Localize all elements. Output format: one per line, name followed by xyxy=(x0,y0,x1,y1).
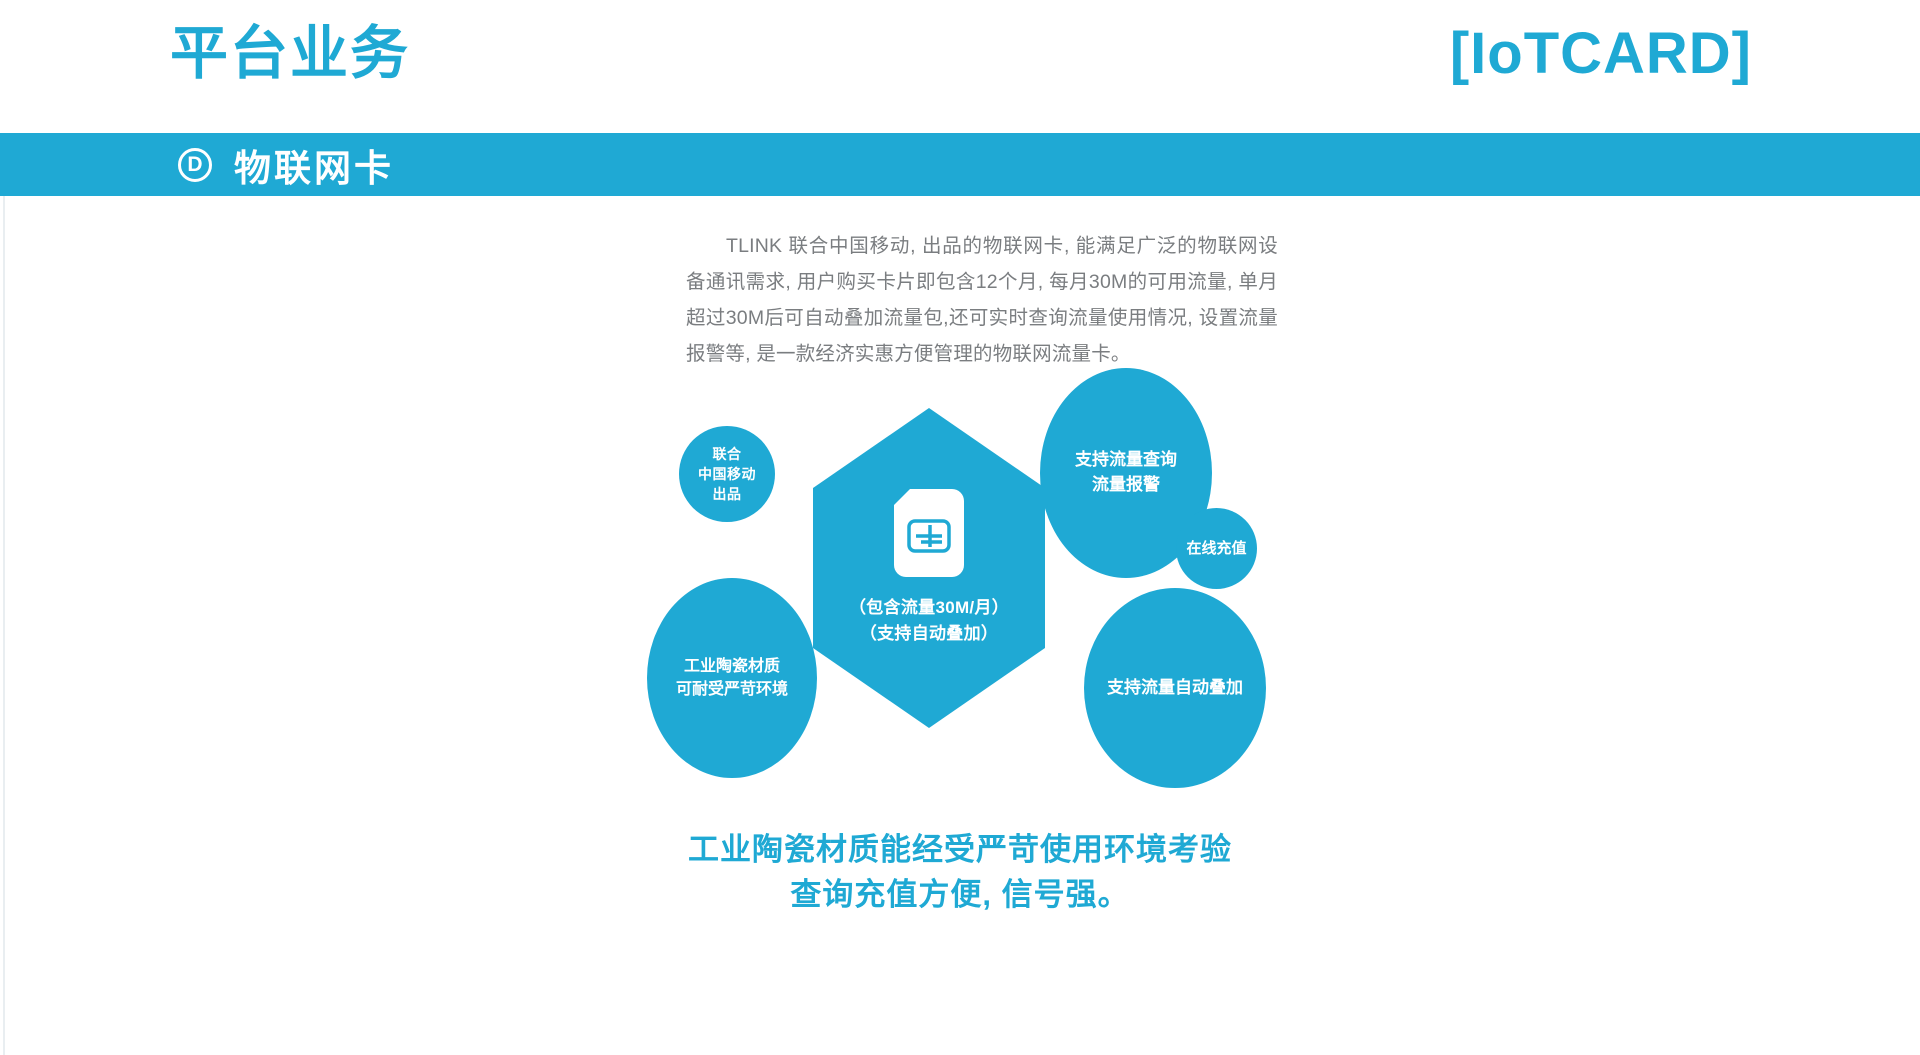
intro-paragraph: TLINK 联合中国移动, 出品的物联网卡, 能满足广泛的物联网设备通讯需求, … xyxy=(686,228,1278,372)
footer-headline: 工业陶瓷材质能经受严苛使用环境考验 查询充值方便, 信号强。 xyxy=(0,828,1920,918)
hexagon-caption: （包含流量30M/月） （支持自动叠加） xyxy=(849,595,1009,648)
diagram-center-hexagon: （包含流量30M/月） （支持自动叠加） xyxy=(813,408,1045,728)
diagram-node-recharge: 在线充值 xyxy=(1176,508,1257,589)
section-letter-badge-icon: D xyxy=(178,148,212,182)
slide-header: 平台业务 [IoTCARD] xyxy=(0,0,1920,133)
section-title: 物联网卡 xyxy=(234,138,394,192)
section-band-inner: D 物联网卡 xyxy=(178,133,394,196)
brand-tag: [IoTCARD] xyxy=(1450,20,1752,87)
page-title: 平台业务 xyxy=(170,22,410,86)
hexagon-caption-line1: （包含流量30M/月） xyxy=(849,595,1009,621)
section-band: D 物联网卡 xyxy=(0,133,1920,196)
sim-card-icon xyxy=(894,489,964,577)
diagram-node-query-label: 支持流量查询 流量报警 xyxy=(1075,448,1177,497)
diagram-node-recharge-label: 在线充值 xyxy=(1186,538,1246,560)
diagram-node-partner-label: 联合 中国移动 出品 xyxy=(698,444,756,505)
slide-page: 平台业务 [IoTCARD] D 物联网卡 TLINK 联合中国移动, 出品的物… xyxy=(0,0,1920,1055)
footer-headline-line1: 工业陶瓷材质能经受严苛使用环境考验 xyxy=(0,828,1920,873)
hexagon-caption-line2: （支持自动叠加） xyxy=(849,621,1009,647)
footer-headline-line2: 查询充值方便, 信号强。 xyxy=(0,873,1920,918)
diagram-node-stack: 支持流量自动叠加 xyxy=(1084,588,1266,788)
diagram-node-material: 工业陶瓷材质 可耐受严苛环境 xyxy=(647,578,817,778)
diagram-node-material-label: 工业陶瓷材质 可耐受严苛环境 xyxy=(676,655,788,701)
diagram-node-partner: 联合 中国移动 出品 xyxy=(679,426,775,522)
diagram-node-stack-label: 支持流量自动叠加 xyxy=(1107,676,1243,701)
feature-diagram: 联合 中国移动 出品 工业陶瓷材质 可耐受严苛环境 支持流量查询 流量报警 在线… xyxy=(620,360,1340,800)
